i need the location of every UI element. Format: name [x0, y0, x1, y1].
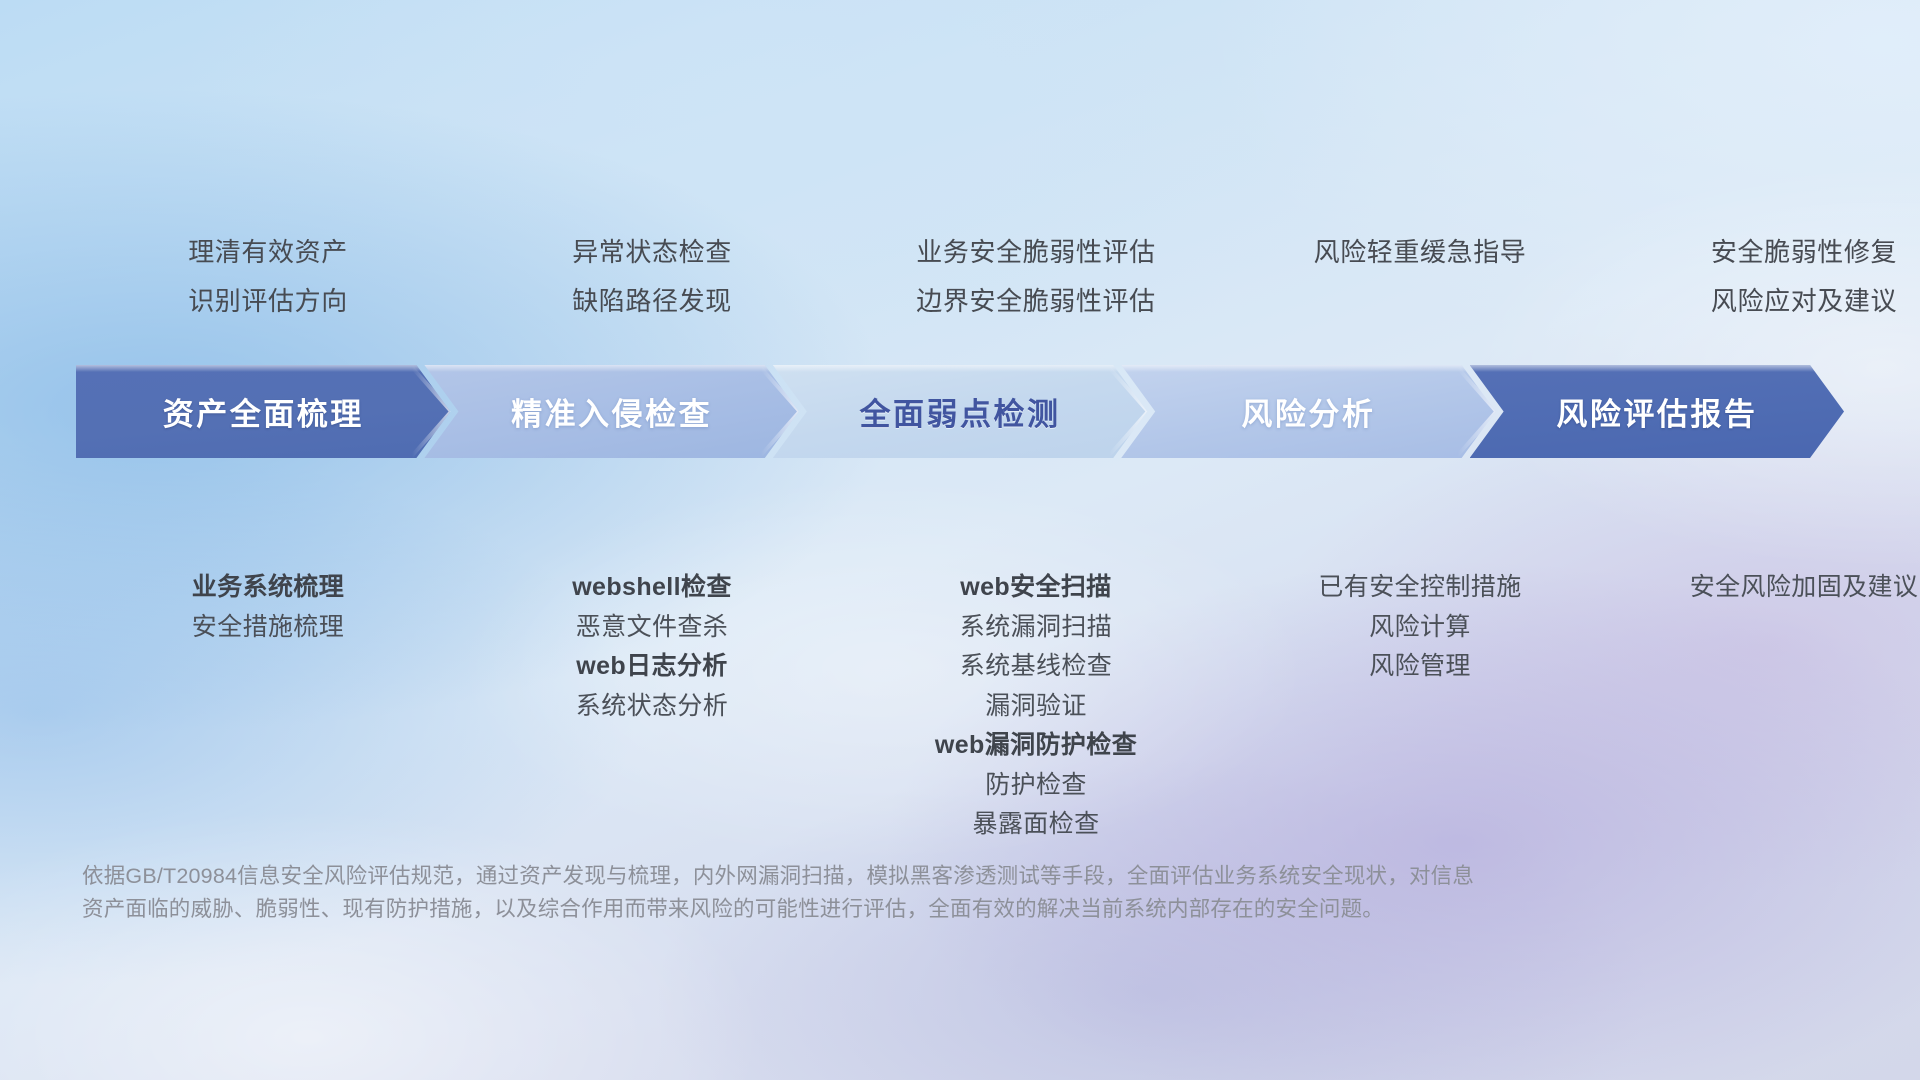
top-caption-line: 边界安全脆弱性评估	[844, 277, 1228, 326]
top-caption-line: 异常状态检查	[460, 228, 844, 277]
stage-label: 风险分析	[1241, 389, 1375, 434]
footer-line-1: 依据GB/T20984信息安全风险评估规范，通过资产发现与梳理，内外网漏洞扫描，…	[82, 860, 1442, 893]
process-stage-risk-analysis[interactable]: 风险分析	[1121, 365, 1495, 458]
top-caption-line: 风险轻重缓急指导	[1228, 228, 1612, 277]
process-stage-risk-report[interactable]: 风险评估报告	[1470, 365, 1844, 458]
top-caption-col-risk-report: 安全脆弱性修复风险应对及建议	[1612, 228, 1920, 326]
top-caption-line: 业务安全脆弱性评估	[844, 228, 1228, 277]
stage-item: 已有安全控制措施	[1228, 568, 1612, 608]
top-caption-col-weakness-detection: 业务安全脆弱性评估边界安全脆弱性评估	[844, 228, 1228, 326]
process-chevron-band: 资产全面梳理精准入侵检查全面弱点检测风险分析风险评估报告	[76, 365, 1844, 458]
stage-items-col-intrusion-check: webshell检查恶意文件查杀web日志分析系统状态分析	[460, 568, 844, 726]
stage-item: web漏洞防护检查	[844, 726, 1228, 766]
stage-items-col-asset-inventory: 业务系统梳理安全措施梳理	[76, 568, 460, 647]
stage-item: 系统基线检查	[844, 647, 1228, 687]
top-caption-col-intrusion-check: 异常状态检查缺陷路径发现	[460, 228, 844, 326]
process-stage-intrusion-check[interactable]: 精准入侵检查	[424, 365, 798, 458]
stage-label: 全面弱点检测	[860, 389, 1061, 434]
footer-line-2: 资产面临的威胁、脆弱性、现有防护措施，以及综合作用而带来风险的可能性进行评估，全…	[82, 893, 1442, 926]
top-caption-line: 识别评估方向	[76, 277, 460, 326]
stage-items-row: 业务系统梳理安全措施梳理webshell检查恶意文件查杀web日志分析系统状态分…	[76, 568, 1920, 845]
top-caption-line: 缺陷路径发现	[460, 277, 844, 326]
process-stage-asset-inventory[interactable]: 资产全面梳理	[76, 365, 450, 458]
stage-item: web安全扫描	[844, 568, 1228, 608]
stage-item: 安全风险加固及建议	[1612, 568, 1920, 608]
stage-items-col-risk-analysis: 已有安全控制措施风险计算风险管理	[1228, 568, 1612, 687]
stage-label: 资产全面梳理	[163, 389, 364, 434]
stage-item: 防护检查	[844, 766, 1228, 806]
top-caption-line: 风险应对及建议	[1612, 277, 1920, 326]
stage-item: 漏洞验证	[844, 687, 1228, 727]
diagram-canvas: 理清有效资产识别评估方向异常状态检查缺陷路径发现业务安全脆弱性评估边界安全脆弱性…	[0, 0, 1920, 1080]
top-caption-line: 安全脆弱性修复	[1612, 228, 1920, 277]
top-caption-col-asset-inventory: 理清有效资产识别评估方向	[76, 228, 460, 326]
stage-item: 业务系统梳理	[76, 568, 460, 608]
stage-item: 风险计算	[1228, 608, 1612, 648]
top-caption-line: 理清有效资产	[76, 228, 460, 277]
stage-item: 安全措施梳理	[76, 608, 460, 648]
stage-items-col-risk-report: 安全风险加固及建议	[1612, 568, 1920, 608]
stage-item: 恶意文件查杀	[460, 608, 844, 648]
stage-item: 系统状态分析	[460, 687, 844, 727]
footer-description: 依据GB/T20984信息安全风险评估规范，通过资产发现与梳理，内外网漏洞扫描，…	[82, 860, 1442, 926]
process-stage-weakness-detection[interactable]: 全面弱点检测	[773, 365, 1147, 458]
stage-item: 系统漏洞扫描	[844, 608, 1228, 648]
stage-item: web日志分析	[460, 647, 844, 687]
top-captions-row: 理清有效资产识别评估方向异常状态检查缺陷路径发现业务安全脆弱性评估边界安全脆弱性…	[76, 228, 1920, 326]
stage-items-col-weakness-detection: web安全扫描系统漏洞扫描系统基线检查漏洞验证web漏洞防护检查防护检查暴露面检…	[844, 568, 1228, 845]
stage-item: 风险管理	[1228, 647, 1612, 687]
top-caption-col-risk-analysis: 风险轻重缓急指导	[1228, 228, 1612, 326]
stage-label: 风险评估报告	[1556, 389, 1757, 434]
stage-item: 暴露面检查	[844, 805, 1228, 845]
stage-label: 精准入侵检查	[511, 389, 712, 434]
stage-item: webshell检查	[460, 568, 844, 608]
